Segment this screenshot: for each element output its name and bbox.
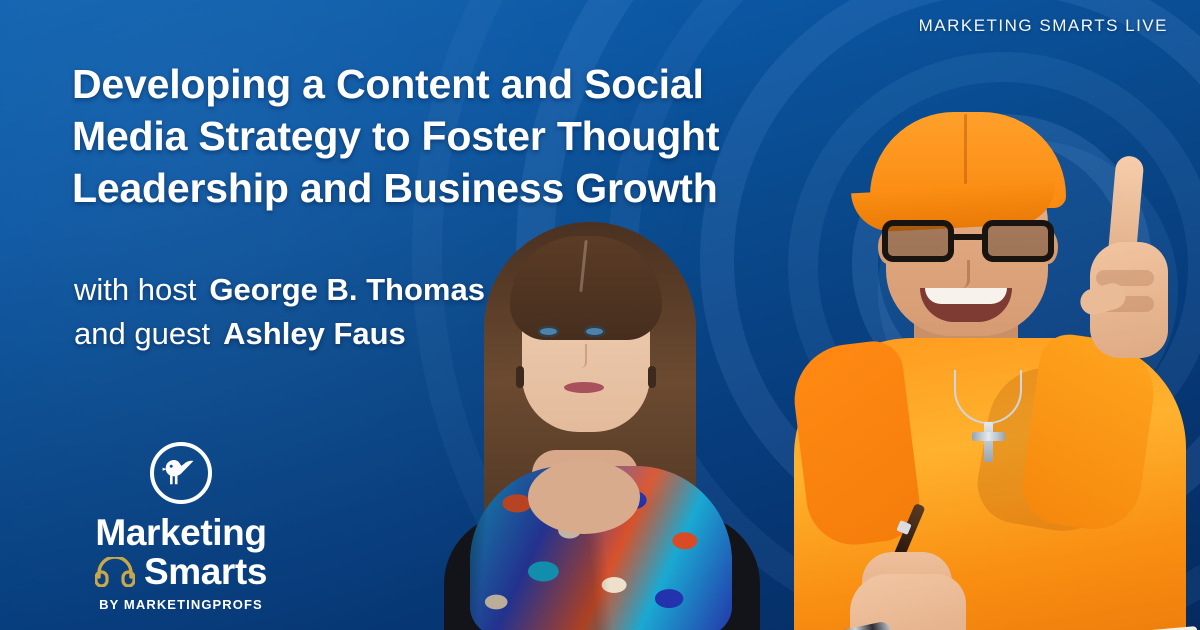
host-nose <box>956 260 970 288</box>
logo-word-marketing: Marketing <box>66 513 296 552</box>
logo-word-smarts: Smarts <box>144 552 267 591</box>
host-eyeglasses <box>882 220 1054 264</box>
guest-photo <box>436 214 766 630</box>
cross-pendant-horizontal <box>972 432 1005 441</box>
speaker-credits: with hostGeorge B. Thomas and guestAshle… <box>74 268 485 356</box>
logo-wordmark: Marketing Smarts <box>66 513 296 591</box>
guest-earring-right <box>648 366 656 388</box>
bird-in-circle-icon <box>148 440 214 506</box>
series-live-label: MARKETING SMARTS LIVE <box>919 16 1168 36</box>
host-knuckle-line-1 <box>1096 270 1154 286</box>
guest-eye-right <box>584 326 605 337</box>
guest-credit-row: and guestAshley Faus <box>74 312 485 356</box>
host-prefix-label: with host <box>74 272 196 307</box>
host-cap-seam <box>964 114 967 184</box>
glasses-lens-right <box>982 220 1054 262</box>
guest-nose <box>578 344 587 368</box>
glasses-lens-left <box>882 220 954 262</box>
guest-scarf-opening <box>528 460 640 534</box>
guest-name-label: Ashley Faus <box>223 316 406 351</box>
guest-mouth <box>564 382 604 393</box>
host-teeth <box>925 288 1007 304</box>
host-credit-row: with hostGeorge B. Thomas <box>74 268 485 312</box>
title-line-1: Developing a Content and Social <box>72 58 802 110</box>
host-name-label: George B. Thomas <box>209 272 485 307</box>
logo-subtitle: BY MARKETINGPROFS <box>66 597 296 612</box>
logo-word-row-2: Smarts <box>66 552 296 591</box>
title-line-3: Leadership and Business Growth <box>72 162 802 214</box>
host-photo <box>778 70 1200 630</box>
cross-pendant-vertical <box>984 422 993 462</box>
headphones-icon <box>95 557 135 587</box>
page-title: Developing a Content and Social Media St… <box>72 58 802 214</box>
guest-prefix-label: and guest <box>74 316 210 351</box>
glasses-bridge <box>952 234 984 240</box>
marketing-smarts-logo: Marketing Smarts BY MARKETINGPROFS <box>66 440 296 612</box>
title-line-2: Media Strategy to Foster Thought <box>72 110 802 162</box>
host-writing-hand <box>850 574 966 630</box>
webinar-promo-banner: MARKETING SMARTS LIVE Developing a Conte… <box>0 0 1200 630</box>
guest-eye-left <box>538 326 559 337</box>
guest-earring-left <box>516 366 524 388</box>
